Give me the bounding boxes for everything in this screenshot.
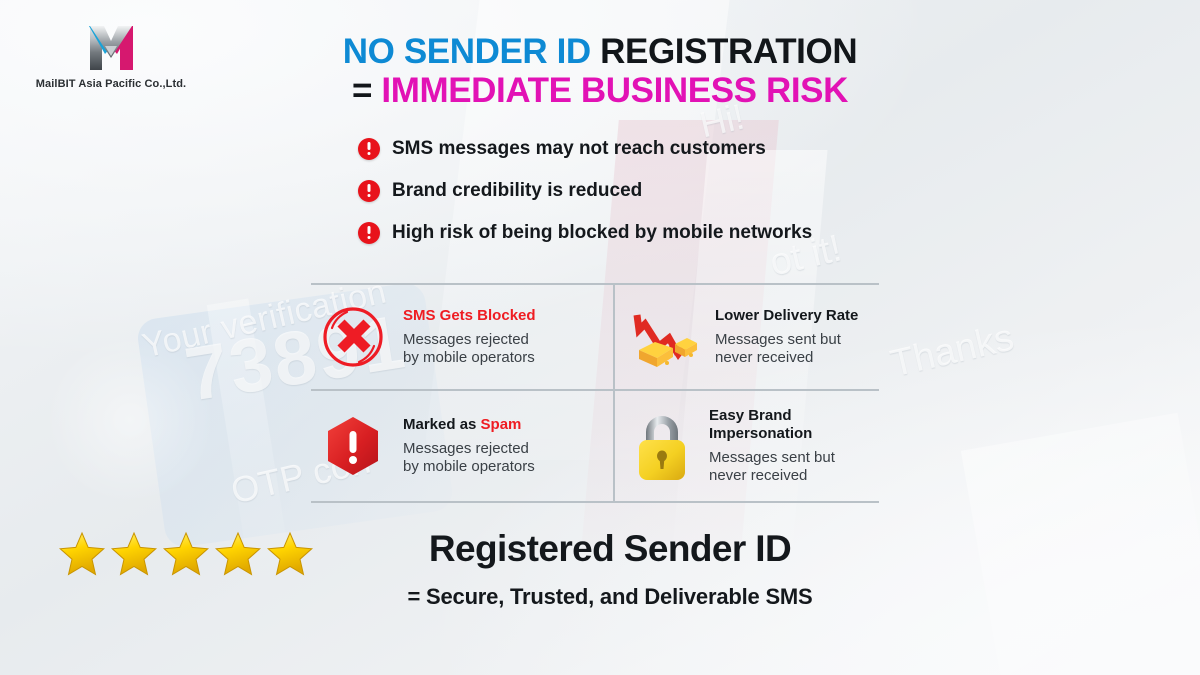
risk-card-title: Lower Delivery Rate <box>715 307 858 324</box>
grid-row-2: Marked as Spam Messages rejected by mobi… <box>311 391 879 501</box>
risk-card-marked-as-spam: Marked as Spam Messages rejected by mobi… <box>311 391 613 501</box>
headline-line-1: NO SENDER ID REGISTRATION <box>0 32 1200 71</box>
footer-headline: Registered Sender ID <box>300 528 920 570</box>
slide-canvas: Your verification 73891 OTP con Hi! ot i… <box>0 0 1200 675</box>
risk-card-title-accent: SMS Gets Blocked <box>403 307 536 324</box>
risk-card-desc-line2: never received <box>709 467 807 484</box>
risk-card-text: SMS Gets Blocked Messages rejected by mo… <box>403 307 536 367</box>
risk-card-desc-line1: Messages rejected <box>403 331 529 348</box>
risk-card-title: Marked as <box>403 416 481 433</box>
risk-card-desc-line1: Messages sent but <box>715 331 841 348</box>
gold-star-icon <box>214 530 262 578</box>
risk-card-title-accent: Spam <box>481 416 522 433</box>
list-item: SMS messages may not reach customers <box>358 128 1058 170</box>
list-item: High risk of being blocked by mobile net… <box>358 212 1058 254</box>
risk-card-sms-gets-blocked: SMS Gets Blocked Messages rejected by mo… <box>311 285 613 389</box>
bullet-label: SMS messages may not reach customers <box>392 138 766 160</box>
exclamation-circle-icon <box>358 138 380 160</box>
risk-card-lower-delivery-rate: Lower Delivery Rate Messages sent but ne… <box>613 285 879 389</box>
footer-message: Registered Sender ID = Secure, Trusted, … <box>300 528 920 610</box>
headline-highlight-immediate-business-risk: IMMEDIATE BUSINESS RISK <box>381 71 848 110</box>
grid-row-1: SMS Gets Blocked Messages rejected by mo… <box>311 285 879 389</box>
footer-subline: = Secure, Trusted, and Deliverable SMS <box>300 584 920 610</box>
bg-shape-glow <box>50 330 210 510</box>
exclamation-circle-icon <box>358 222 380 244</box>
risk-card-text: Lower Delivery Rate Messages sent but ne… <box>715 307 858 367</box>
bg-shape-panel-6 <box>961 413 1200 675</box>
risk-card-desc-line1: Messages sent but <box>709 449 835 466</box>
risk-card-easy-brand-impersonation: Easy Brand Impersonation Messages sent b… <box>613 391 879 501</box>
risk-card-desc-line2: never received <box>715 349 813 366</box>
bullet-label: Brand credibility is reduced <box>392 180 642 202</box>
exclamation-circle-icon <box>358 180 380 202</box>
rating-stars <box>58 530 314 578</box>
grid-divider-bottom <box>311 501 879 503</box>
gold-star-icon <box>110 530 158 578</box>
risk-card-title: Easy Brand Impersonation <box>709 407 812 442</box>
falling-chart-gold-bars-icon <box>629 302 701 372</box>
headline-line-2: = IMMEDIATE BUSINESS RISK <box>0 71 1200 110</box>
yellow-padlock-icon <box>629 407 695 485</box>
risk-card-grid: SMS Gets Blocked Messages rejected by mo… <box>311 283 879 503</box>
red-hexagon-warning-icon <box>317 410 389 482</box>
headline-equals-sign: = <box>352 71 372 110</box>
list-item: Brand credibility is reduced <box>358 170 1058 212</box>
risk-card-desc-line1: Messages rejected <box>403 440 529 457</box>
page-title: NO SENDER ID REGISTRATION = IMMEDIATE BU… <box>0 32 1200 110</box>
risk-card-text: Easy Brand Impersonation Messages sent b… <box>709 407 879 484</box>
gold-star-icon <box>58 530 106 578</box>
gold-star-icon <box>162 530 210 578</box>
risk-card-text: Marked as Spam Messages rejected by mobi… <box>403 416 535 476</box>
watermark-thanks-text: Thanks <box>887 317 1018 387</box>
circled-x-icon <box>317 301 389 373</box>
risk-card-desc-line2: by mobile operators <box>403 349 535 366</box>
risk-bullet-list: SMS messages may not reach customers Bra… <box>358 128 1058 254</box>
bullet-label: High risk of being blocked by mobile net… <box>392 222 812 244</box>
headline-highlight-no-sender-id: NO SENDER ID <box>343 32 591 71</box>
risk-card-desc-line2: by mobile operators <box>403 458 535 475</box>
headline-registration: REGISTRATION <box>600 32 857 71</box>
